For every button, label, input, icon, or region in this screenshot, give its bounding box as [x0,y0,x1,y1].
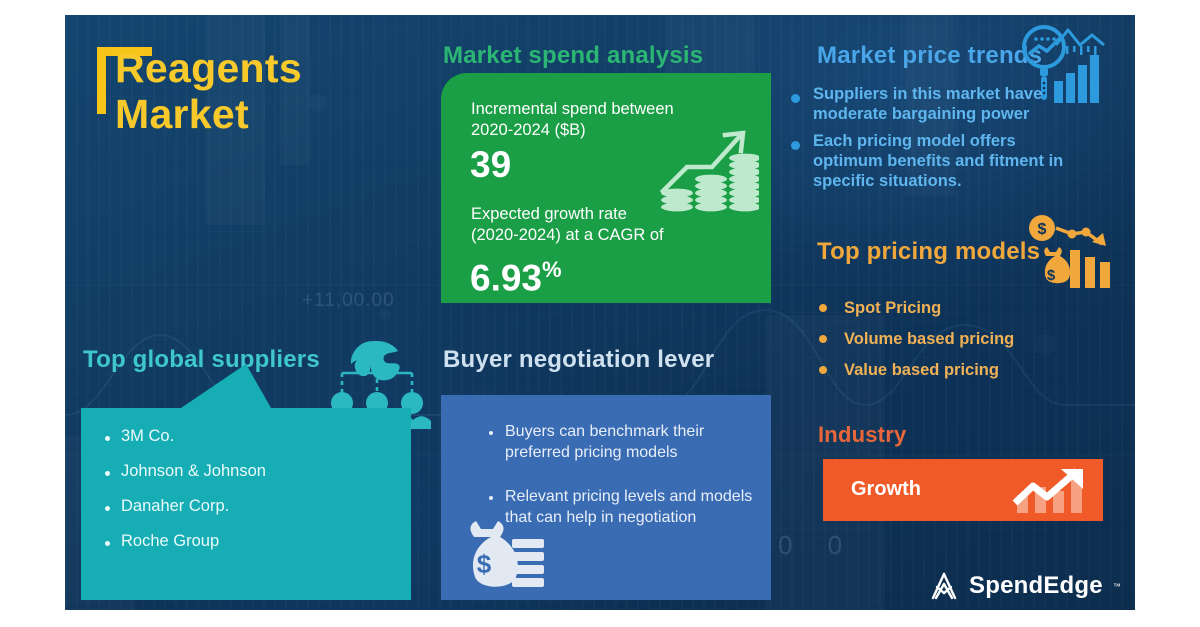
industry-heading: Industry [818,422,906,448]
bg-ticker-value: +11,00.00 [302,290,395,312]
growth-arrow-chart-icon [1011,467,1093,515]
svg-text:$: $ [1038,221,1047,238]
page-title-line1: Reagents [115,45,427,91]
supplier-item-1: 3M Co. [121,427,174,446]
incremental-spend-label-line1: Incremental spend between [471,99,674,120]
cagr-label-line1: Expected growth rate [471,204,627,225]
supplier-bullet-dot [105,506,110,511]
infographic-board: +11,00.00 0 0 Reagents Market Market spe… [65,15,1135,610]
money-bag-coins-icon: $ [450,515,546,597]
supplier-item-3: Danaher Corp. [121,497,229,516]
spendedge-chevron-logo-icon [927,571,961,601]
trademark-symbol: ™ [1113,582,1121,591]
industry-status-banner: Growth [823,459,1103,521]
top-global-suppliers-panel: 3M Co. Johnson & Johnson Danaher Corp. R… [81,408,411,600]
infographic-canvas: +11,00.00 0 0 Reagents Market Market spe… [0,0,1200,627]
market-price-trends-bullet-dot [791,141,800,150]
industry-status-label: Growth [851,478,921,501]
spendedge-logo-text: SpendEdge [969,572,1103,600]
market-spend-analysis-heading: Market spend analysis [443,42,703,70]
spendedge-logo: SpendEdge ™ [927,571,1121,601]
coin-stacks-rising-arrow-icon [657,121,759,217]
svg-text:$: $ [477,549,492,579]
top-pricing-models-bullet-1: Spot Pricing [844,298,941,318]
page-title-block: Reagents Market [97,45,427,137]
cagr-value: 6.93% [470,250,562,298]
negotiation-bullet-1: Buyers can benchmark their preferred pri… [505,421,753,463]
top-pricing-models-heading: Top pricing models [817,238,1040,266]
top-pricing-models-bullet-dot [819,304,827,312]
top-pricing-models-bullet-dot [819,335,827,343]
page-title: Reagents Market [115,45,427,137]
incremental-spend-value: 39 [470,145,511,185]
market-price-trends-bullet-dot [791,94,800,103]
page-title-line2: Market [115,91,427,137]
cagr-label-line2: (2020-2024) at a CAGR of [471,225,664,246]
buyer-negotiation-lever-panel: Buyers can benchmark their preferred pri… [441,395,771,600]
market-price-trends-bullet-2: Each pricing model offers optimum benefi… [813,131,1075,191]
buyer-negotiation-lever-heading: Buyer negotiation lever [443,346,714,374]
market-spend-analysis-panel: Incremental spend between 2020-2024 ($B)… [441,73,771,303]
top-pricing-models-bullet-2: Volume based pricing [844,329,1014,349]
supplier-item-4: Roche Group [121,532,219,551]
cagr-percent-sign: % [542,257,562,282]
supplier-bullet-dot [105,436,110,441]
supplier-bullet-dot [105,471,110,476]
negotiation-bullet-dot [489,431,493,435]
market-price-trends-bullet-1: Suppliers in this market have moderate b… [813,84,1075,124]
incremental-spend-label-line2: 2020-2024 ($B) [471,120,586,141]
supplier-item-2: Johnson & Johnson [121,462,266,481]
market-price-trends-heading: Market price trends [817,42,1042,70]
money-bag-declining-chart-icon: $ $ [1026,208,1118,293]
top-pricing-models-bullet-dot [819,366,827,374]
cagr-number: 6.93 [470,257,542,298]
top-pricing-models-bullet-3: Value based pricing [844,360,999,380]
supplier-bullet-dot [105,541,110,546]
negotiation-bullet-dot [489,496,493,500]
svg-text:$: $ [1047,267,1056,284]
bg-ticker-value-2: 0 0 [778,530,856,561]
